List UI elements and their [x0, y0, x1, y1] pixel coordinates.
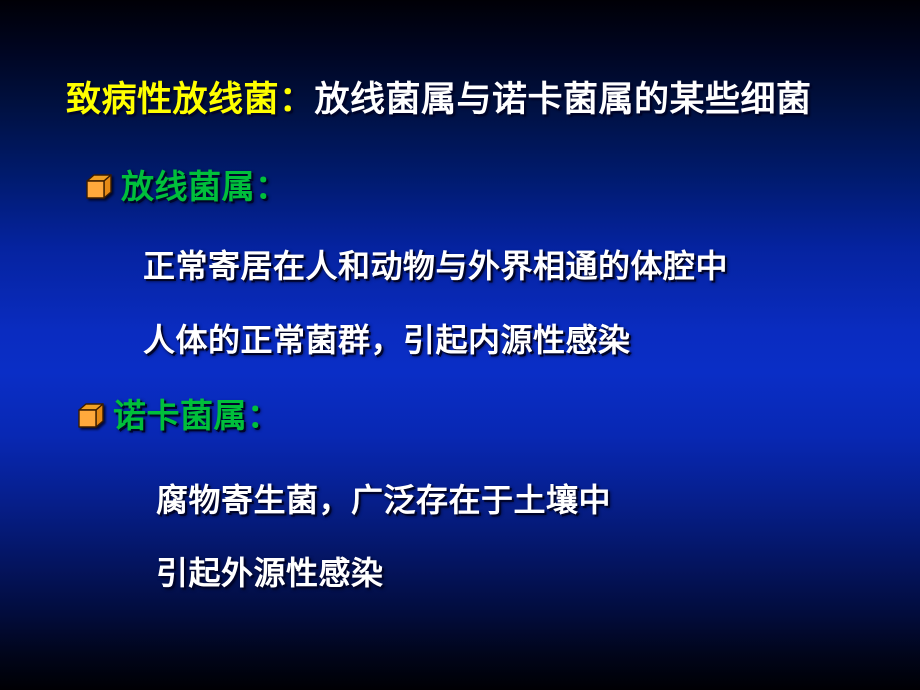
section-heading-label: 放线菌属： — [121, 170, 289, 203]
orange-cube-bullet-icon — [78, 403, 104, 428]
presentation-slide: 致病性放线菌：放线菌属与诺卡菌属的某些细菌 放线菌属： 正常寄居在人和动物与外界… — [0, 0, 920, 690]
body-line: 人体的正常菌群，引起内源性感染 — [143, 324, 631, 356]
orange-cube-bullet-icon — [86, 174, 112, 199]
body-line: 腐物寄生菌，广泛存在于土壤中 — [156, 484, 611, 516]
section-heading-label: 诺卡菌属： — [113, 399, 281, 432]
slide-title-highlight: 致病性放线菌： — [66, 80, 315, 120]
body-line: 正常寄居在人和动物与外界相通的体腔中 — [143, 250, 728, 282]
slide-title-rest: 放线菌属与诺卡菌属的某些细菌 — [315, 80, 812, 120]
section-heading-actinomyces: 放线菌属： — [86, 170, 289, 203]
section-heading-nocardia: 诺卡菌属： — [78, 399, 281, 432]
slide-title: 致病性放线菌：放线菌属与诺卡菌属的某些细菌 — [66, 83, 812, 118]
body-line: 引起外源性感染 — [156, 557, 384, 589]
